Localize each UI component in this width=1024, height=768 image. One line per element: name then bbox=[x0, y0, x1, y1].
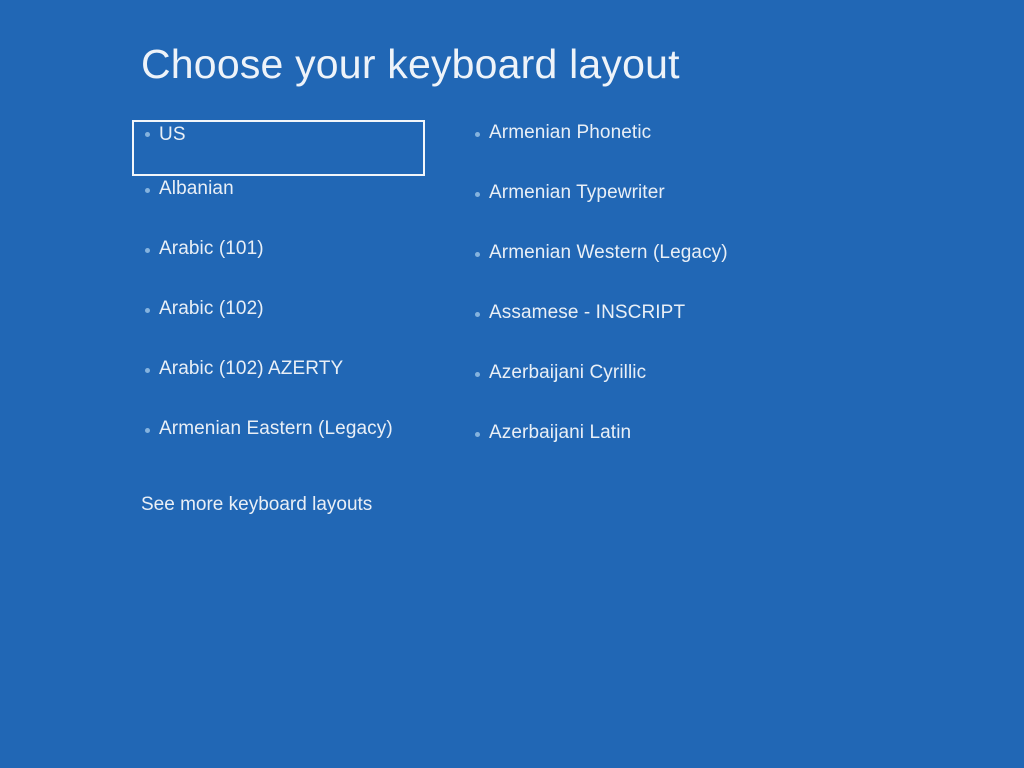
choose-keyboard-layout-screen: Choose your keyboard layout US Albanian … bbox=[0, 0, 1024, 768]
keyboard-layout-label: Armenian Western (Legacy) bbox=[489, 240, 728, 266]
keyboard-layout-option-azerbaijani-cyrillic[interactable]: Azerbaijani Cyrillic bbox=[462, 360, 882, 420]
keyboard-layout-option-assamese-inscript[interactable]: Assamese - INSCRIPT bbox=[462, 300, 882, 360]
bullet-dot-icon bbox=[475, 372, 480, 377]
keyboard-layout-column-left: US Albanian Arabic (101) Arabic (102) Ar… bbox=[132, 120, 428, 476]
keyboard-layout-label: US bbox=[159, 122, 186, 148]
bullet-dot-icon bbox=[145, 428, 150, 433]
keyboard-layout-label: Armenian Eastern (Legacy) bbox=[159, 416, 393, 442]
keyboard-layout-label: Azerbaijani Cyrillic bbox=[489, 360, 646, 386]
keyboard-layout-label: Armenian Typewriter bbox=[489, 180, 665, 206]
keyboard-layout-label: Arabic (101) bbox=[159, 236, 264, 262]
keyboard-layout-label: Arabic (102) bbox=[159, 296, 264, 322]
bullet-dot-icon bbox=[475, 132, 480, 137]
keyboard-layout-option-armenian-eastern-legacy[interactable]: Armenian Eastern (Legacy) bbox=[132, 416, 428, 476]
bullet-dot-icon bbox=[475, 432, 480, 437]
keyboard-layout-label: Assamese - INSCRIPT bbox=[489, 300, 685, 326]
keyboard-layout-option-us[interactable]: US bbox=[132, 120, 425, 176]
keyboard-layout-label: Albanian bbox=[159, 176, 234, 202]
keyboard-layout-option-azerbaijani-latin[interactable]: Azerbaijani Latin bbox=[462, 420, 882, 480]
bullet-dot-icon bbox=[145, 248, 150, 253]
keyboard-layout-label: Arabic (102) AZERTY bbox=[159, 356, 343, 382]
keyboard-layout-option-armenian-typewriter[interactable]: Armenian Typewriter bbox=[462, 180, 882, 240]
bullet-dot-icon bbox=[145, 188, 150, 193]
bullet-dot-icon bbox=[145, 368, 150, 373]
bullet-dot-icon bbox=[145, 308, 150, 313]
keyboard-layout-option-arabic-101[interactable]: Arabic (101) bbox=[132, 236, 428, 296]
keyboard-layout-option-albanian[interactable]: Albanian bbox=[132, 176, 428, 236]
bullet-dot-icon bbox=[475, 312, 480, 317]
keyboard-layout-option-arabic-102-azerty[interactable]: Arabic (102) AZERTY bbox=[132, 356, 428, 416]
keyboard-layout-option-armenian-phonetic[interactable]: Armenian Phonetic bbox=[462, 120, 882, 180]
bullet-dot-icon bbox=[475, 192, 480, 197]
see-more-keyboard-layouts-link[interactable]: See more keyboard layouts bbox=[141, 492, 372, 518]
keyboard-layout-label: Azerbaijani Latin bbox=[489, 420, 631, 446]
keyboard-layout-option-armenian-western-legacy[interactable]: Armenian Western (Legacy) bbox=[462, 240, 882, 300]
keyboard-layout-column-right: Armenian Phonetic Armenian Typewriter Ar… bbox=[462, 120, 882, 480]
keyboard-layout-label: Armenian Phonetic bbox=[489, 120, 651, 146]
keyboard-layout-option-arabic-102[interactable]: Arabic (102) bbox=[132, 296, 428, 356]
bullet-dot-icon bbox=[145, 132, 150, 137]
page-title: Choose your keyboard layout bbox=[141, 38, 680, 90]
bullet-dot-icon bbox=[475, 252, 480, 257]
